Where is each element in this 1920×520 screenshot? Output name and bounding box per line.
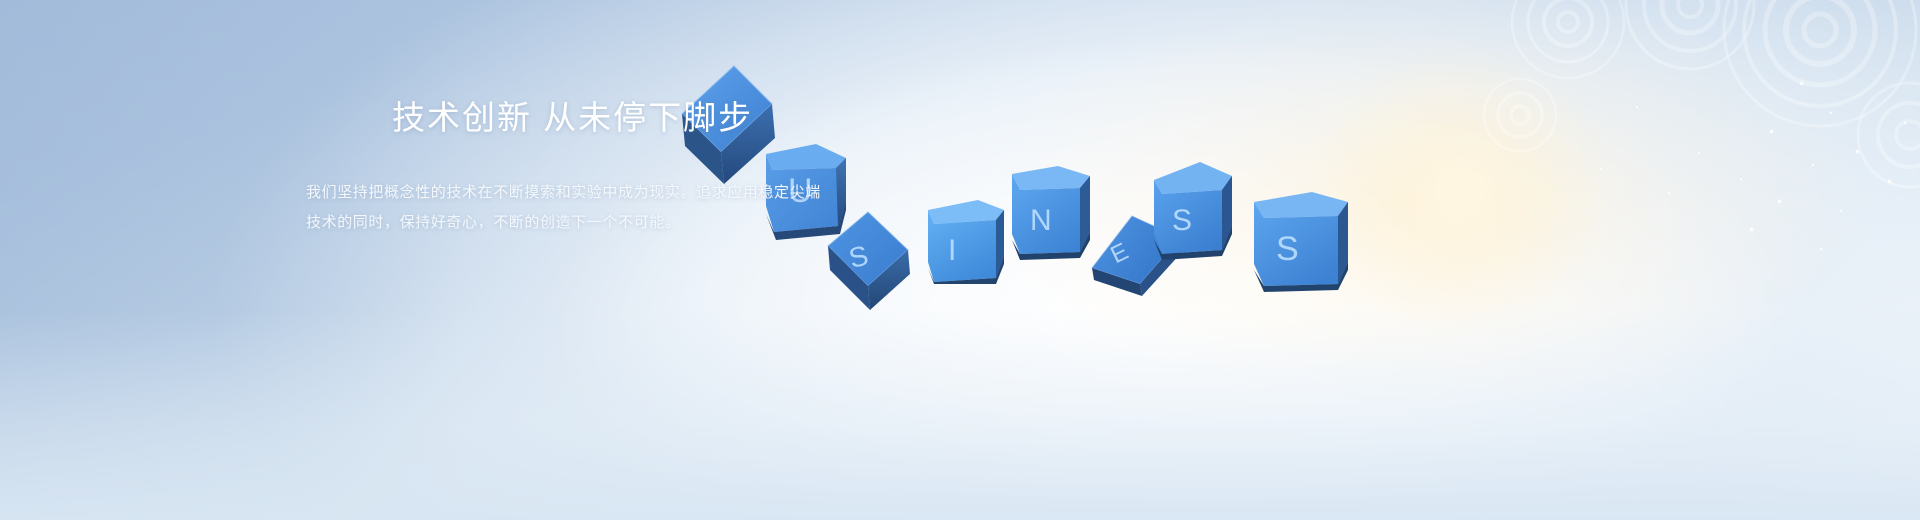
svg-text:N: N — [1030, 204, 1052, 237]
sparkle-particles — [1300, 60, 1920, 320]
keycap-s-3[interactable]: S — [1250, 188, 1352, 294]
banner-headline: 技术创新 从未停下脚步 — [306, 96, 926, 140]
subcopy-line-1: 我们坚持把概念性的技术在不断摸索和实验中成为现实。追求应用稳定尖端 — [306, 178, 926, 208]
subcopy-line-2: 技术的同时，保持好奇心，不断的创造下一个不可能。 — [306, 208, 926, 238]
hero-banner: U S — [0, 0, 1920, 520]
banner-subcopy: 我们坚持把概念性的技术在不断摸索和实验中成为现实。追求应用稳定尖端 技术的同时，… — [306, 178, 926, 238]
keycap-s-2[interactable]: S — [1150, 160, 1236, 260]
svg-text:S: S — [1276, 230, 1299, 268]
bottom-haze — [0, 310, 1920, 520]
svg-text:I: I — [948, 234, 956, 267]
keycap-n[interactable]: N — [1010, 164, 1094, 260]
keycap-i[interactable]: I — [926, 198, 1012, 284]
banner-copy: 技术创新 从未停下脚步 我们坚持把概念性的技术在不断摸索和实验中成为现实。追求应… — [306, 96, 926, 238]
svg-text:S: S — [1172, 204, 1192, 237]
left-haze — [0, 0, 460, 520]
keycap-cluster: U S — [0, 0, 1920, 520]
